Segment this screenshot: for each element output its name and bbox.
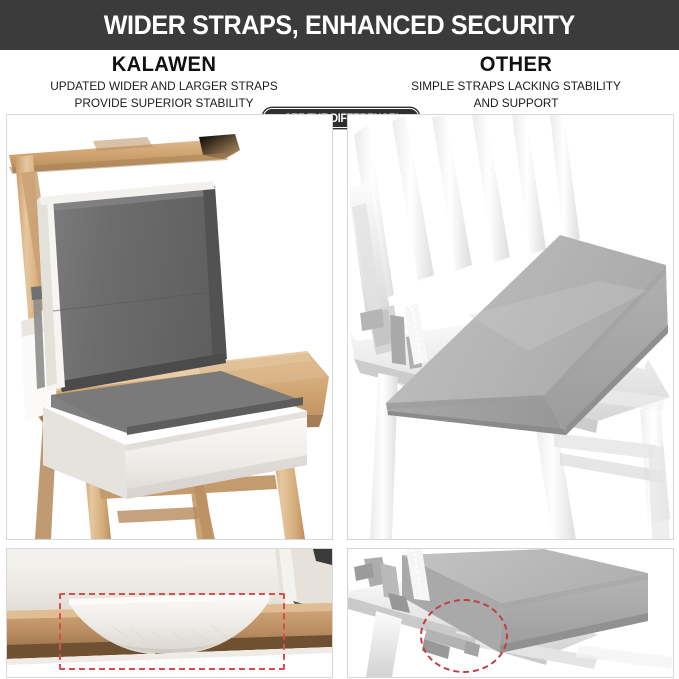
product-photo-other (347, 114, 674, 540)
caption-column-kalawen: KALAWEN UPDATED WIDER AND LARGER STRAPS … (14, 52, 314, 111)
detail-photo-kalawen-wide-strap (6, 548, 333, 678)
kalawen-chair-illustration (7, 115, 332, 539)
kalawen-heading: KALAWEN (20, 52, 308, 77)
detail-photo-other-thin-strap (347, 548, 674, 678)
highlight-wide-strap-dashed-rectangle (59, 593, 285, 670)
kalawen-subtitle-line2: PROVIDE SUPERIOR STABILITY (22, 96, 307, 111)
page-title: WIDER STRAPS, ENHANCED SECURITY (104, 10, 575, 41)
highlight-thin-strap-dashed-ellipse (420, 599, 508, 673)
infographic-page: WIDER STRAPS, ENHANCED SECURITY KALAWEN … (0, 0, 679, 679)
caption-column-other: OTHER SIMPLE STRAPS LACKING STABILITY AN… (366, 52, 666, 111)
product-photo-kalawen (6, 114, 333, 540)
kalawen-subtitle-line1: UPDATED WIDER AND LARGER STRAPS (22, 79, 307, 94)
other-heading: OTHER (372, 52, 660, 77)
thin-strap-detail-illustration (348, 549, 673, 677)
other-chair-illustration (348, 115, 673, 539)
comparison-caption-row: KALAWEN UPDATED WIDER AND LARGER STRAPS … (0, 50, 679, 114)
header-banner: WIDER STRAPS, ENHANCED SECURITY (0, 0, 679, 50)
other-subtitle-line2: AND SUPPORT (374, 96, 659, 111)
other-subtitle-line1: SIMPLE STRAPS LACKING STABILITY (374, 79, 659, 94)
